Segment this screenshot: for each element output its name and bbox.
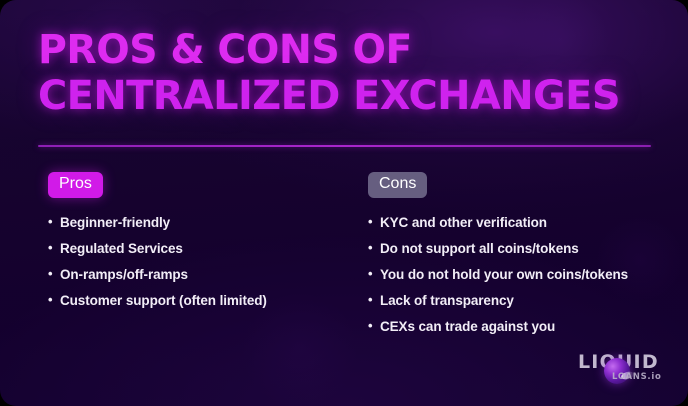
liquid-loans-logo: LIQUID LOANS.io bbox=[578, 352, 670, 390]
list-item: Customer support (often limited) bbox=[48, 293, 348, 308]
title-line-1: PROS & CONS OF bbox=[38, 28, 653, 73]
title-divider bbox=[38, 145, 651, 147]
list-item: Beginner-friendly bbox=[48, 215, 348, 230]
pros-list: Beginner-friendly Regulated Services On-… bbox=[48, 215, 348, 308]
title-line-2: CENTRALIZED EXCHANGES bbox=[38, 73, 653, 118]
list-item: On-ramps/off-ramps bbox=[48, 267, 348, 282]
cons-list: KYC and other verification Do not suppor… bbox=[368, 215, 668, 334]
list-item: You do not hold your own coins/tokens bbox=[368, 267, 668, 282]
list-item: Regulated Services bbox=[48, 241, 348, 256]
logo-subtext: LOANS.io bbox=[612, 372, 662, 382]
page-title: PROS & CONS OF CENTRALIZED EXCHANGES bbox=[38, 28, 662, 118]
list-item: Do not support all coins/tokens bbox=[368, 241, 668, 256]
list-item: CEXs can trade against you bbox=[368, 319, 668, 334]
pros-cons-card: PROS & CONS OF CENTRALIZED EXCHANGES Pro… bbox=[0, 0, 688, 406]
cons-column: Cons KYC and other verification Do not s… bbox=[368, 172, 668, 345]
list-item: Lack of transparency bbox=[368, 293, 668, 308]
pros-badge: Pros bbox=[48, 172, 103, 198]
cons-badge: Cons bbox=[368, 172, 427, 198]
pros-column: Pros Beginner-friendly Regulated Service… bbox=[48, 172, 348, 319]
list-item: KYC and other verification bbox=[368, 215, 668, 230]
